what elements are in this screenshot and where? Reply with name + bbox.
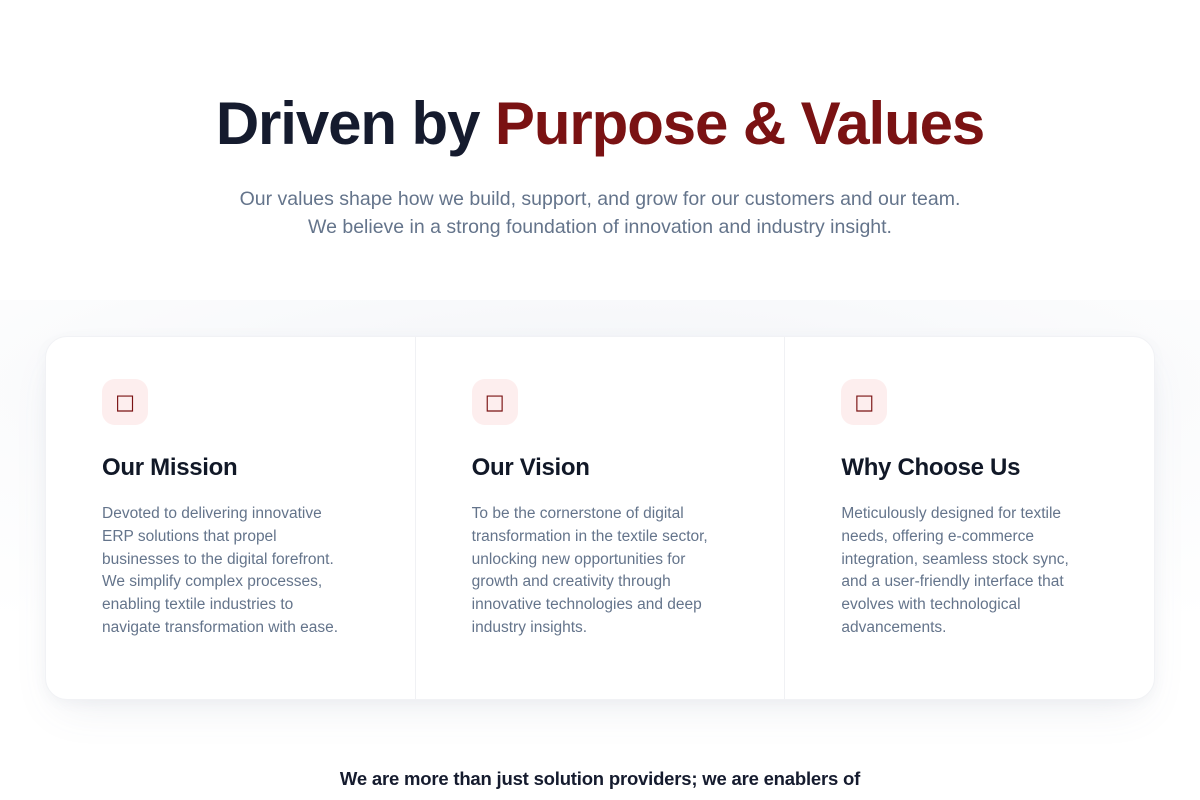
value-card-why-choose-us: □ Why Choose Us Meticulously designed fo…: [784, 337, 1154, 699]
page-subtitle: Our values shape how we build, support, …: [224, 185, 976, 241]
value-card-title: Our Mission: [102, 454, 359, 482]
why-choose-us-icon-tile: □: [841, 379, 887, 425]
values-card-group: □ Our Mission Devoted to delivering inno…: [45, 336, 1155, 700]
value-card-body: To be the cornerstone of digital transfo…: [472, 503, 724, 640]
value-card-vision: □ Our Vision To be the cornerstone of di…: [415, 337, 785, 699]
missing-glyph-icon: □: [485, 392, 505, 413]
value-card-mission: □ Our Mission Devoted to delivering inno…: [46, 337, 415, 699]
value-card-title: Our Vision: [472, 454, 729, 482]
values-page: Driven by Purpose & Values Our values sh…: [0, 0, 1200, 800]
page-header: Driven by Purpose & Values Our values sh…: [0, 0, 1200, 241]
page-title-accent: Purpose & Values: [495, 90, 984, 157]
value-card-title: Why Choose Us: [841, 454, 1098, 482]
page-title: Driven by Purpose & Values: [0, 92, 1200, 156]
closing-statement: We are more than just solution providers…: [0, 768, 1200, 790]
value-card-body: Devoted to delivering innovative ERP sol…: [102, 503, 354, 640]
value-card-body: Meticulously designed for textile needs,…: [841, 503, 1093, 640]
page-title-lead: Driven by: [216, 90, 495, 157]
missing-glyph-icon: □: [854, 392, 874, 413]
mission-icon-tile: □: [102, 379, 148, 425]
missing-glyph-icon: □: [115, 392, 135, 413]
vision-icon-tile: □: [472, 379, 518, 425]
